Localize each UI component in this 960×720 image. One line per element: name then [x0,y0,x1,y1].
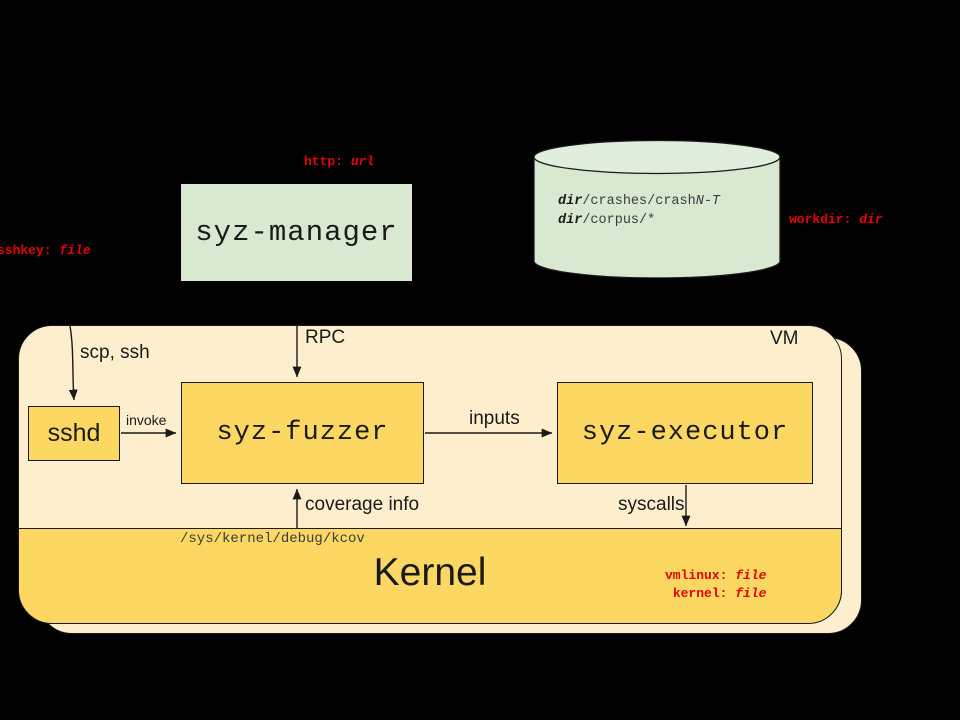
sshd-box: sshd [28,406,120,461]
syz-fuzzer-box: syz-fuzzer [181,382,424,484]
syz-manager-label: syz-manager [195,216,397,249]
annotation-sshkey: sshkey: file [0,243,91,258]
edge-label-inputs: inputs [469,408,520,430]
annotation-http: http: url [304,154,374,169]
workdir-dir-token-2: dir [558,213,582,228]
edge-label-invoke: invoke [126,412,166,428]
annotation-kernel-file-key: kernel: [673,586,728,601]
syz-executor-label: syz-executor [582,418,788,448]
edge-label-rpc: RPC [305,327,345,349]
annotation-sshkey-key: sshkey: [0,243,52,258]
annotation-vmlinux-key: vmlinux: [665,568,727,583]
syz-fuzzer-label: syz-fuzzer [216,418,388,448]
annotation-vmlinux-value: file [735,568,766,583]
workdir-paths: dir/crashes/crashN-T dir/corpus/* [558,192,720,230]
sshd-label: sshd [48,419,101,448]
annotation-workdir-value: dir [859,212,882,227]
annotation-workdir-key: workdir: [789,212,851,227]
annotation-http-key: http: [304,154,343,169]
annotation-workdir: workdir: dir [789,212,883,227]
edge-label-coverage-info: coverage info [305,494,419,516]
edge-label-syscalls: syscalls [618,494,685,516]
edge-label-scp-ssh: scp, ssh [80,342,150,364]
syz-executor-box: syz-executor [557,382,813,484]
diagram-canvas: VM /sys/kernel/debug/kcov Kernel sshd sy… [0,0,960,720]
workdir-cylinder: dir/crashes/crashN-T dir/corpus/* [533,140,781,278]
annotation-http-value: url [351,154,374,169]
vm-label: VM [770,328,799,350]
workdir-crash-suffix: N-T [696,194,720,209]
annotation-kernel-file-value: file [735,586,766,601]
annotation-sshkey-value: file [59,243,90,258]
annotation-kernel-file: kernel: file [665,585,766,603]
workdir-path-corpus: dir/corpus/* [558,211,720,230]
workdir-crashes-rest: /crashes/crash [582,194,695,209]
workdir-dir-token-1: dir [558,194,582,209]
annotation-vmlinux: vmlinux: file [665,567,766,585]
kcov-path-label: /sys/kernel/debug/kcov [180,531,365,547]
annotation-kernel-files: vmlinux: file kernel: file [665,567,766,603]
syz-manager-box: syz-manager [181,184,412,281]
workdir-path-crashes: dir/crashes/crashN-T [558,192,720,211]
workdir-corpus-rest: /corpus/* [582,213,655,228]
